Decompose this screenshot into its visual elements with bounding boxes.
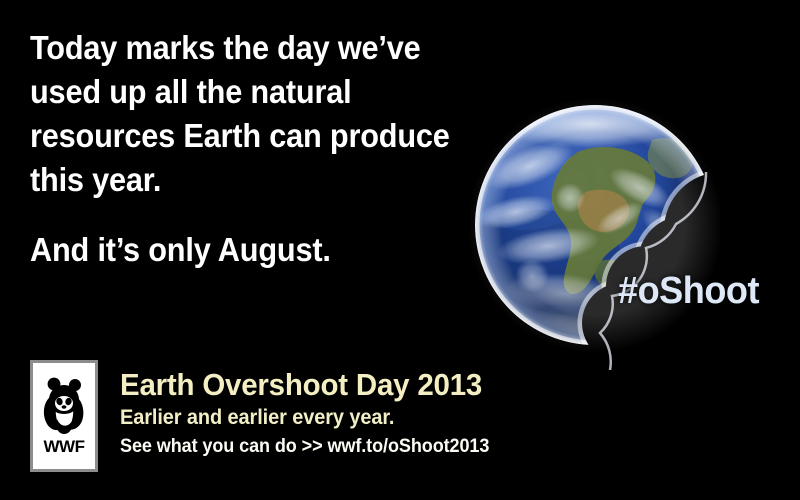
footer: WWF Earth Overshoot Day 2013 Earlier and… xyxy=(30,360,509,472)
wwf-panda-logo: WWF xyxy=(30,360,98,472)
footer-text-block: Earth Overshoot Day 2013 Earlier and ear… xyxy=(120,360,509,459)
subheadline: And it’s only August. xyxy=(30,228,467,272)
campaign-title: Earth Overshoot Day 2013 xyxy=(120,368,489,402)
campaign-cta-link[interactable]: See what you can do >> wwf.to/oShoot2013 xyxy=(120,435,489,459)
campaign-subtitle: Earlier and earlier every year. xyxy=(120,405,489,431)
earth-globe-icon xyxy=(470,80,720,370)
hashtag-label: #oShoot xyxy=(618,270,759,312)
earth-globe-with-bite xyxy=(470,80,720,370)
earth-overshoot-day-poster: Today marks the day we’ve used up all th… xyxy=(0,0,800,500)
panda-icon xyxy=(40,375,88,437)
page-title: Today marks the day we’ve used up all th… xyxy=(30,26,476,202)
wwf-wordmark: WWF xyxy=(44,438,85,456)
